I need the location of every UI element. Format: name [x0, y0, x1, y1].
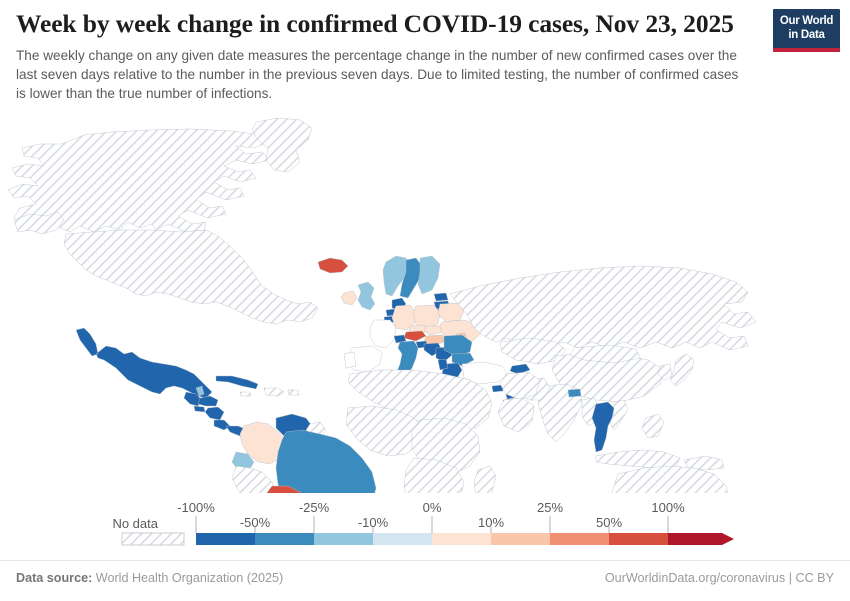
footer-attribution[interactable]: OurWorldinData.org/coronavirus | CC BY [605, 571, 834, 585]
country-austria[interactable] [404, 331, 426, 341]
country-iceland[interactable] [318, 258, 348, 273]
owid-logo-rule [773, 48, 840, 52]
legend-bin-5[interactable] [491, 533, 550, 545]
legend-bin-1[interactable] [255, 533, 314, 545]
legend-tick-label: -10% [358, 515, 389, 530]
legend-tick-label: -100% [177, 500, 215, 515]
owid-logo-text: Our World in Data [773, 9, 840, 48]
country-hispaniola[interactable] [264, 388, 284, 396]
country-poland[interactable] [413, 305, 440, 328]
legend-bin-6[interactable] [550, 533, 609, 545]
country-thailand[interactable] [592, 402, 614, 452]
legend-bin-0[interactable] [196, 533, 255, 545]
legend-color-bins[interactable] [196, 533, 734, 545]
country-united-states[interactable] [64, 230, 318, 324]
legend-bin-2[interactable] [314, 533, 373, 545]
legend-tick-label: 0% [423, 500, 442, 515]
legend-no-data-label: No data [112, 516, 158, 531]
map-countries[interactable] [8, 118, 756, 493]
country-australia[interactable] [612, 466, 730, 493]
page-title: Week by week change in confirmed COVID-1… [16, 10, 756, 39]
world-map-svg[interactable] [0, 108, 850, 493]
country-finland[interactable] [418, 256, 440, 294]
legend-tick-labels: -100% -25% 0% 25% 100% -50% -10% 10% 50% [177, 500, 685, 530]
country-russia[interactable] [450, 266, 756, 350]
owid-logo-line1: Our World [780, 15, 833, 27]
country-portugal[interactable] [344, 352, 356, 368]
legend-svg[interactable]: No data -100% -25% 0% 25% 100% -50% -10%… [0, 496, 850, 548]
legend-tick-label: 50% [596, 515, 622, 530]
country-united-kingdom[interactable] [358, 282, 375, 310]
data-source-value: World Health Organization (2025) [96, 571, 283, 585]
country-malaysia-indonesia[interactable] [596, 450, 680, 468]
country-honduras[interactable] [198, 396, 218, 406]
legend-bin-4[interactable] [432, 533, 491, 545]
data-source-label: Data source: [16, 571, 92, 585]
legend-tick-label: -50% [240, 515, 271, 530]
legend-bin-7[interactable] [609, 533, 668, 545]
country-saudi-arabia[interactable] [498, 398, 534, 432]
country-jamaica[interactable] [240, 392, 251, 396]
world-map-container[interactable] [0, 108, 850, 493]
country-france[interactable] [370, 320, 396, 348]
country-madagascar[interactable] [474, 466, 496, 493]
country-peru[interactable] [232, 466, 276, 493]
country-bhutan[interactable] [568, 389, 581, 397]
legend-bin-8-open-ended[interactable] [668, 533, 734, 545]
chart-subtitle: The weekly change on any given date meas… [16, 46, 742, 104]
owid-logo-line2: in Data [788, 29, 824, 41]
country-mexico[interactable] [76, 328, 212, 398]
country-japan[interactable] [670, 354, 694, 386]
country-slovakia[interactable] [424, 326, 442, 335]
country-nicaragua[interactable] [205, 407, 224, 420]
country-philippines[interactable] [642, 414, 664, 438]
country-el-salvador[interactable] [194, 406, 205, 412]
legend-tick-label: 10% [478, 515, 504, 530]
legend-tick-label: 25% [537, 500, 563, 515]
chart-header: Week by week change in confirmed COVID-1… [16, 10, 756, 103]
legend-no-data-swatch[interactable] [122, 533, 184, 545]
country-ireland[interactable] [341, 291, 357, 305]
owid-logo[interactable]: Our World in Data [773, 9, 840, 52]
legend-tick-label: 100% [651, 500, 685, 515]
chart-footer: Data source: World Health Organization (… [0, 560, 850, 601]
data-source: Data source: World Health Organization (… [16, 571, 283, 585]
country-puerto-rico[interactable] [288, 390, 299, 395]
map-legend[interactable]: No data -100% -25% 0% 25% 100% -50% -10%… [0, 496, 850, 548]
legend-bin-3[interactable] [373, 533, 432, 545]
country-estonia[interactable] [434, 293, 448, 301]
legend-tick-label: -25% [299, 500, 330, 515]
country-albania[interactable] [438, 359, 448, 370]
country-cuba[interactable] [216, 376, 258, 389]
